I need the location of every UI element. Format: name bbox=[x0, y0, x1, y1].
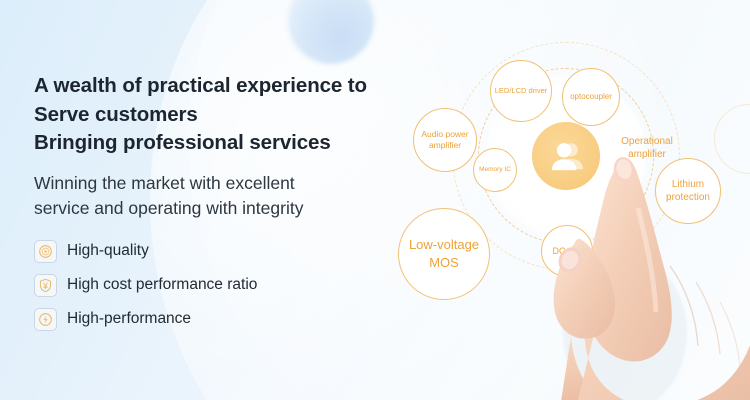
subheading: Winning the market with excellent servic… bbox=[34, 171, 434, 221]
feature-label: High cost performance ratio bbox=[67, 276, 257, 294]
node-optocoupler[interactable]: optocoupler bbox=[562, 68, 620, 126]
headline-line-3: Bringing professional services bbox=[34, 129, 434, 158]
headline-line-1: A wealth of practical experience to bbox=[34, 72, 434, 101]
lightning-bolt-icon bbox=[34, 308, 57, 331]
node-label: optocoupler bbox=[570, 92, 612, 103]
feature-list: High-quality High cost performance ratio bbox=[34, 240, 434, 331]
page-title: A wealth of practical experience to Serv… bbox=[34, 72, 434, 158]
quality-medal-icon bbox=[34, 240, 57, 263]
node-led-lcd-driver[interactable]: LED/LCD driver bbox=[490, 60, 552, 122]
content-column: A wealth of practical experience to Serv… bbox=[34, 72, 434, 342]
feature-label: High-performance bbox=[67, 310, 191, 328]
subheading-line-1: Winning the market with excellent bbox=[34, 171, 434, 196]
node-label: Memory IC bbox=[479, 166, 511, 175]
feature-item-cost-performance: High cost performance ratio bbox=[34, 274, 434, 297]
feature-label: High-quality bbox=[67, 242, 149, 260]
hand-pointing-finger bbox=[520, 148, 750, 400]
shield-yen-icon bbox=[34, 274, 57, 297]
feature-item-high-performance: High-performance bbox=[34, 308, 434, 331]
node-memory-ic[interactable]: Memory IC bbox=[473, 148, 517, 192]
node-diagram: Audio power amplifier LED/LCD driver opt… bbox=[380, 0, 750, 400]
node-label: LED/LCD driver bbox=[495, 86, 548, 96]
subheading-line-2: service and operating with integrity bbox=[34, 196, 434, 221]
headline-line-2: Serve customers bbox=[34, 101, 434, 130]
feature-item-high-quality: High-quality bbox=[34, 240, 434, 263]
promo-banner: A wealth of practical experience to Serv… bbox=[0, 0, 750, 400]
